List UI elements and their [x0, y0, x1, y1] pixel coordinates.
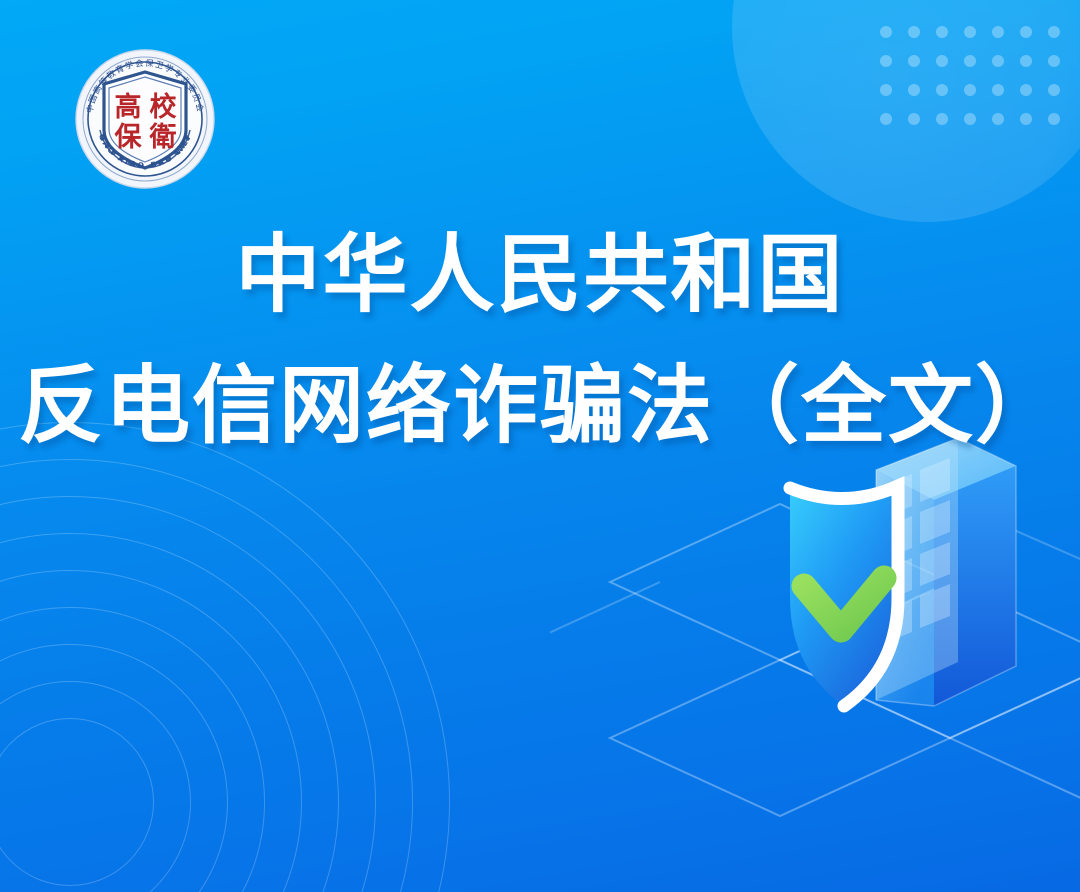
- arc-ring: [0, 607, 265, 892]
- dot-grid-pattern: [880, 26, 1080, 144]
- grid-dot: [880, 55, 892, 67]
- concentric-arc-rings: [0, 422, 450, 892]
- arc-ring: [0, 422, 450, 892]
- grid-dot: [964, 113, 976, 125]
- logo-char-xiao: 校: [150, 91, 177, 123]
- grid-dot: [964, 84, 976, 96]
- arc-ring: [0, 533, 339, 892]
- logo-char-bao: 保: [114, 122, 143, 153]
- arc-ring: [0, 644, 228, 892]
- corner-glow-circle: [732, 0, 1080, 222]
- grid-dot: [1020, 55, 1032, 67]
- grid-dot: [1048, 113, 1060, 125]
- grid-dot: [880, 113, 892, 125]
- grid-dot: [1048, 84, 1060, 96]
- grid-dot: [936, 113, 948, 125]
- poster-canvas: 中国高等教育学会保卫学专业委员会 高: [0, 0, 1080, 892]
- title-line-2: 反电信网络诈骗法（全文）: [0, 364, 1080, 449]
- grid-dot: [880, 84, 892, 96]
- grid-dot: [908, 26, 920, 38]
- grid-dot: [1020, 26, 1032, 38]
- grid-dot: [964, 55, 976, 67]
- grid-dot: [908, 55, 920, 67]
- grid-dot: [908, 113, 920, 125]
- grid-dot: [964, 26, 976, 38]
- grid-dot: [992, 26, 1004, 38]
- grid-dot: [992, 84, 1004, 96]
- grid-dot: [1020, 113, 1032, 125]
- grid-dot: [908, 84, 920, 96]
- arc-ring: [0, 718, 154, 886]
- title-line-1: 中华人民共和国: [0, 233, 1080, 318]
- logo-char-wei: 衛: [149, 121, 177, 153]
- grid-dot: [936, 55, 948, 67]
- organization-logo: 中国高等教育学会保卫学专业委员会 高: [70, 44, 220, 194]
- grid-dot: [992, 55, 1004, 67]
- grid-dot: [936, 84, 948, 96]
- page-title: 中华人民共和国 反电信网络诈骗法（全文）: [0, 233, 1080, 449]
- logo-char-gao: 高: [115, 91, 142, 123]
- grid-dot: [1048, 26, 1060, 38]
- arc-ring: [0, 570, 302, 892]
- grid-dot: [992, 113, 1004, 125]
- grid-dot: [880, 26, 892, 38]
- arc-ring: [0, 459, 413, 892]
- grid-dot: [936, 26, 948, 38]
- grid-dot: [1020, 84, 1032, 96]
- arc-ring: [0, 681, 191, 892]
- arc-ring: [0, 496, 376, 892]
- logo-emblem-icon: 中国高等教育学会保卫学专业委员会 高: [70, 44, 220, 194]
- grid-dot: [1048, 55, 1060, 67]
